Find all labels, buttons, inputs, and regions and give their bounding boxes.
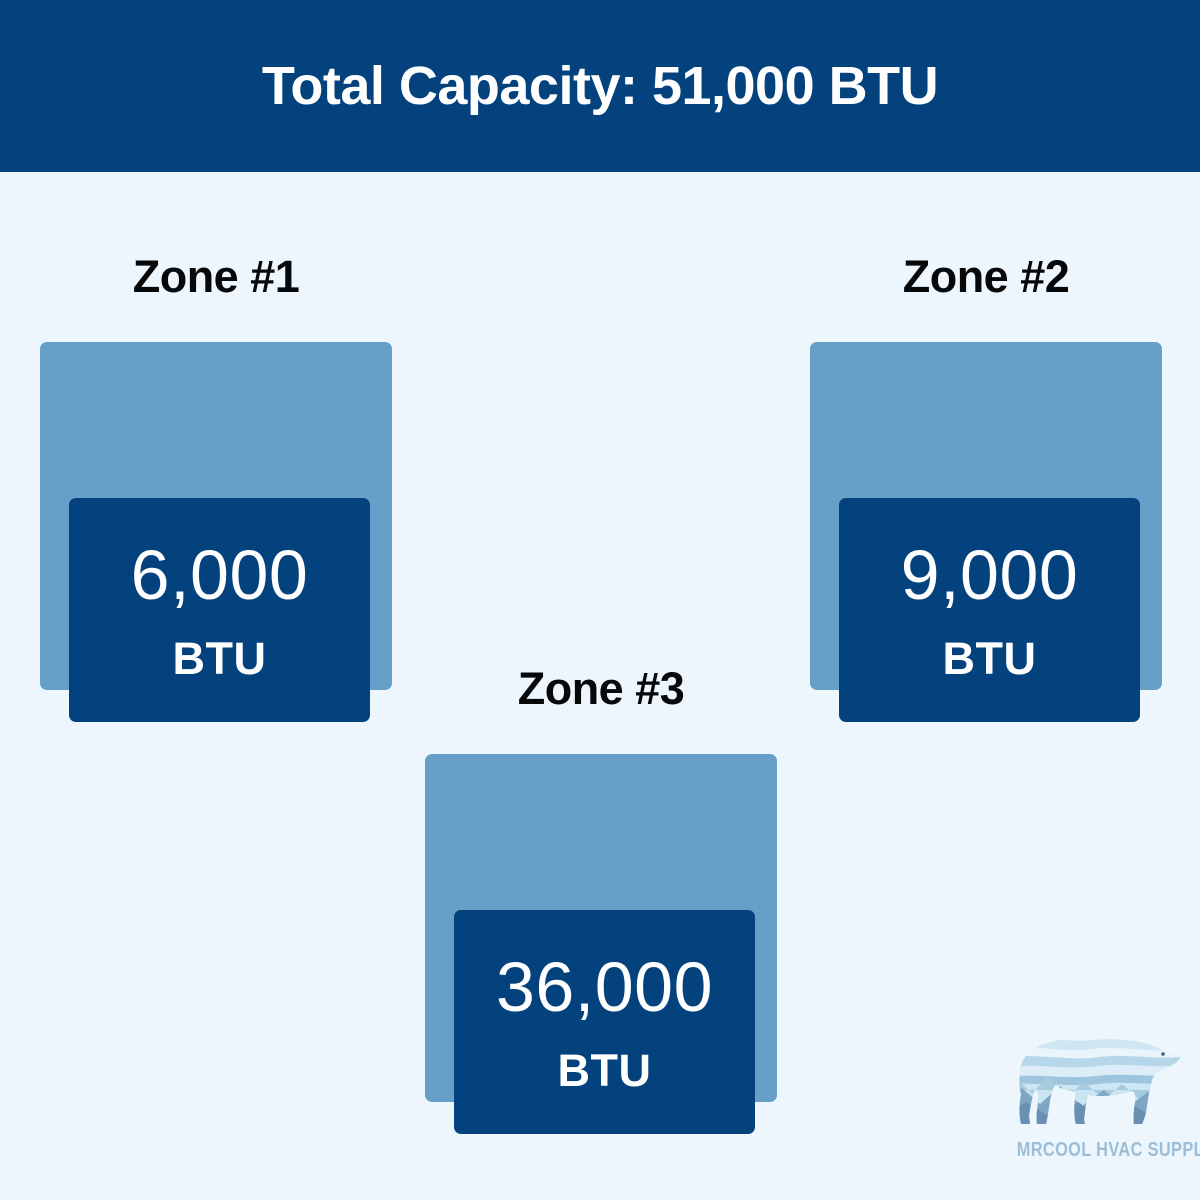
zone-1-unit: BTU [173,636,267,681]
zone-1-value: 6,000 [131,540,309,610]
zone-2-label: Zone #2 [810,254,1162,299]
page-title: Total Capacity: 51,000 BTU [262,59,938,113]
zone-3-card: 36,000 BTU [425,754,777,1102]
zone-1-capacity-box: 6,000 BTU [69,498,370,722]
polar-bear-icon [1000,1028,1186,1138]
infographic-canvas: Total Capacity: 51,000 BTU Zone #1 6,000… [0,0,1200,1200]
zone-2-value: 9,000 [901,540,1079,610]
zone-block-1: Zone #1 6,000 BTU [40,248,392,694]
zone-2-unit: BTU [943,636,1037,681]
zone-3-label: Zone #3 [425,666,777,711]
header-banner: Total Capacity: 51,000 BTU [0,0,1200,172]
zone-block-2: Zone #2 9,000 BTU [810,248,1162,694]
zone-3-capacity-box: 36,000 BTU [454,910,755,1134]
brand-name: MRCOOL HVAC SUPPLY [1017,1140,1170,1160]
zone-3-unit: BTU [558,1048,652,1093]
zone-2-card: 9,000 BTU [810,342,1162,690]
zone-1-label: Zone #1 [40,254,392,299]
zone-3-value: 36,000 [496,952,713,1022]
zone-block-3: Zone #3 36,000 BTU [425,660,777,1106]
brand-logo: MRCOOL HVAC SUPPLY [1000,1028,1186,1188]
zone-1-card: 6,000 BTU [40,342,392,690]
zone-2-capacity-box: 9,000 BTU [839,498,1140,722]
